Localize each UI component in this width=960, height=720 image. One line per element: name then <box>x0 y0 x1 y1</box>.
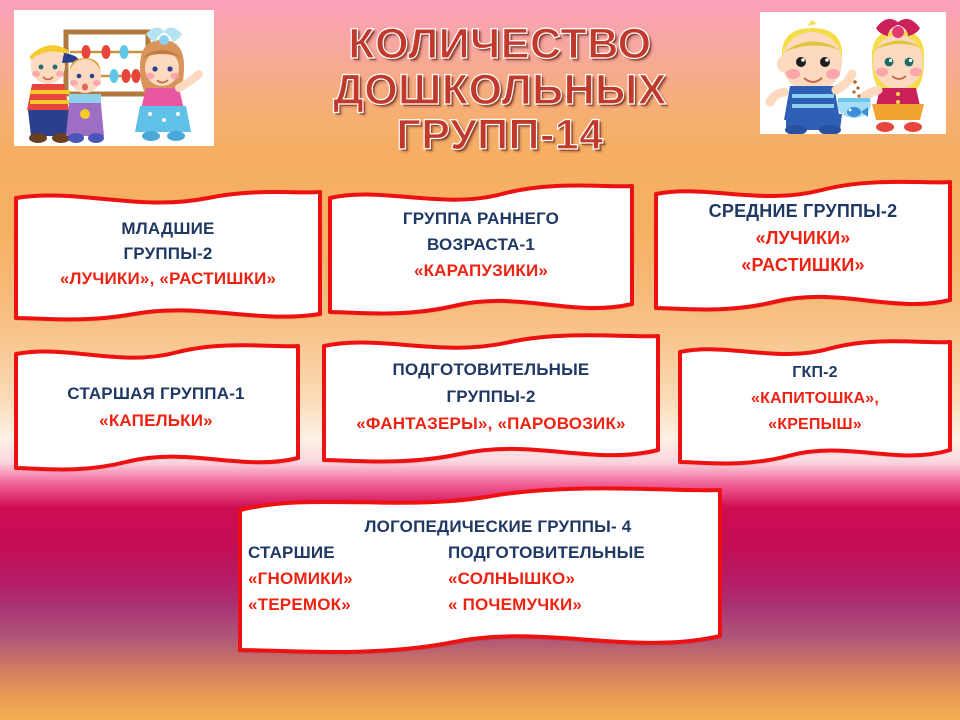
logoped-row: «ТЕРЕМОК» « ПОЧЕМУЧКИ» <box>248 592 712 618</box>
card-line: ГРУППА РАННЕГО <box>322 206 640 232</box>
card-line: «КРЕПЫШ» <box>674 412 956 438</box>
group-card-gkp[interactable]: ГКП-2 «КАПИТОШКА», «КРЕПЫШ» <box>674 338 956 468</box>
group-card-logopedicheskie-gruppy[interactable]: ЛОГОПЕДИЧЕСКИЕ ГРУППЫ- 4 СТАРШИЕ ПОДГОТО… <box>230 484 730 662</box>
logoped-row: «ГНОМИКИ» «СОЛНЫШКО» <box>248 566 712 592</box>
card-line: СРЕДНИЕ ГРУППЫ-2 <box>650 198 956 225</box>
card-line: ГКП-2 <box>674 360 956 386</box>
page-title: КОЛИЧЕСТВО ДОШКОЛЬНЫХ ГРУПП-14 <box>240 22 760 159</box>
card-line: «ЛУЧИКИ» <box>650 225 956 252</box>
card-line: «ЛУЧИКИ», «РАСТИШКИ» <box>8 266 328 291</box>
page-title-line-1: КОЛИЧЕСТВО <box>240 22 760 68</box>
group-card-mladshie-gruppy[interactable]: МЛАДШИЕ ГРУППЫ-2 «ЛУЧИКИ», «РАСТИШКИ» <box>8 186 328 326</box>
card-line: «РАСТИШКИ» <box>650 252 956 279</box>
group-card-gruppa-rannego-vozrasta[interactable]: ГРУППА РАННЕГО ВОЗРАСТА-1 «КАРАПУЗИКИ» <box>322 178 640 318</box>
card-text: МЛАДШИЕ ГРУППЫ-2 «ЛУЧИКИ», «РАСТИШКИ» <box>8 216 328 291</box>
group-card-starshaya-gruppa[interactable]: СТАРШАЯ ГРУППА-1 «КАПЕЛЬКИ» <box>8 340 304 474</box>
page-title-line-2: ДОШКОЛЬНЫХ ГРУПП-14 <box>240 68 760 159</box>
logoped-col2-item: « ПОЧЕМУЧКИ» <box>448 592 712 618</box>
logoped-header-row: СТАРШИЕ ПОДГОТОВИТЕЛЬНЫЕ <box>248 540 712 566</box>
card-text: ГКП-2 «КАПИТОШКА», «КРЕПЫШ» <box>674 360 956 438</box>
children-with-abacus-illustration <box>14 10 214 146</box>
card-line: МЛАДШИЕ <box>8 216 328 241</box>
logoped-heading: ЛОГОПЕДИЧЕСКИЕ ГРУППЫ- 4 <box>248 514 712 540</box>
card-text: СРЕДНИЕ ГРУППЫ-2 «ЛУЧИКИ» «РАСТИШКИ» <box>650 198 956 279</box>
card-line: «КАРАПУЗИКИ» <box>322 258 640 284</box>
card-line: «ФАНТАЗЕРЫ», «ПАРОВОЗИК» <box>318 410 664 437</box>
card-line: «КАПЕЛЬКИ» <box>8 407 304 434</box>
card-text: ЛОГОПЕДИЧЕСКИЕ ГРУППЫ- 4 СТАРШИЕ ПОДГОТО… <box>248 514 712 618</box>
logoped-col1-item: «ГНОМИКИ» <box>248 566 448 592</box>
children-feeding-fish-illustration <box>760 12 946 134</box>
group-card-podgotovitelnye-gruppy[interactable]: ПОДГОТОВИТЕЛЬНЫЕ ГРУППЫ-2 «ФАНТАЗЕРЫ», «… <box>318 330 664 470</box>
logoped-col1-item: «ТЕРЕМОК» <box>248 592 448 618</box>
group-card-srednie-gruppy[interactable]: СРЕДНИЕ ГРУППЫ-2 «ЛУЧИКИ» «РАСТИШКИ» <box>650 176 956 316</box>
card-line: ГРУППЫ-2 <box>318 383 664 410</box>
logoped-col2-item: «СОЛНЫШКО» <box>448 566 712 592</box>
card-line: ВОЗРАСТА-1 <box>322 232 640 258</box>
card-line: СТАРШАЯ ГРУППА-1 <box>8 380 304 407</box>
card-text: ГРУППА РАННЕГО ВОЗРАСТА-1 «КАРАПУЗИКИ» <box>322 206 640 284</box>
card-line: ГРУППЫ-2 <box>8 241 328 266</box>
card-line: «КАПИТОШКА», <box>674 386 956 412</box>
logoped-col2-header: ПОДГОТОВИТЕЛЬНЫЕ <box>448 540 712 566</box>
logoped-col1-header: СТАРШИЕ <box>248 540 448 566</box>
card-line: ПОДГОТОВИТЕЛЬНЫЕ <box>318 356 664 383</box>
card-text: ПОДГОТОВИТЕЛЬНЫЕ ГРУППЫ-2 «ФАНТАЗЕРЫ», «… <box>318 356 664 437</box>
card-text: СТАРШАЯ ГРУППА-1 «КАПЕЛЬКИ» <box>8 380 304 434</box>
